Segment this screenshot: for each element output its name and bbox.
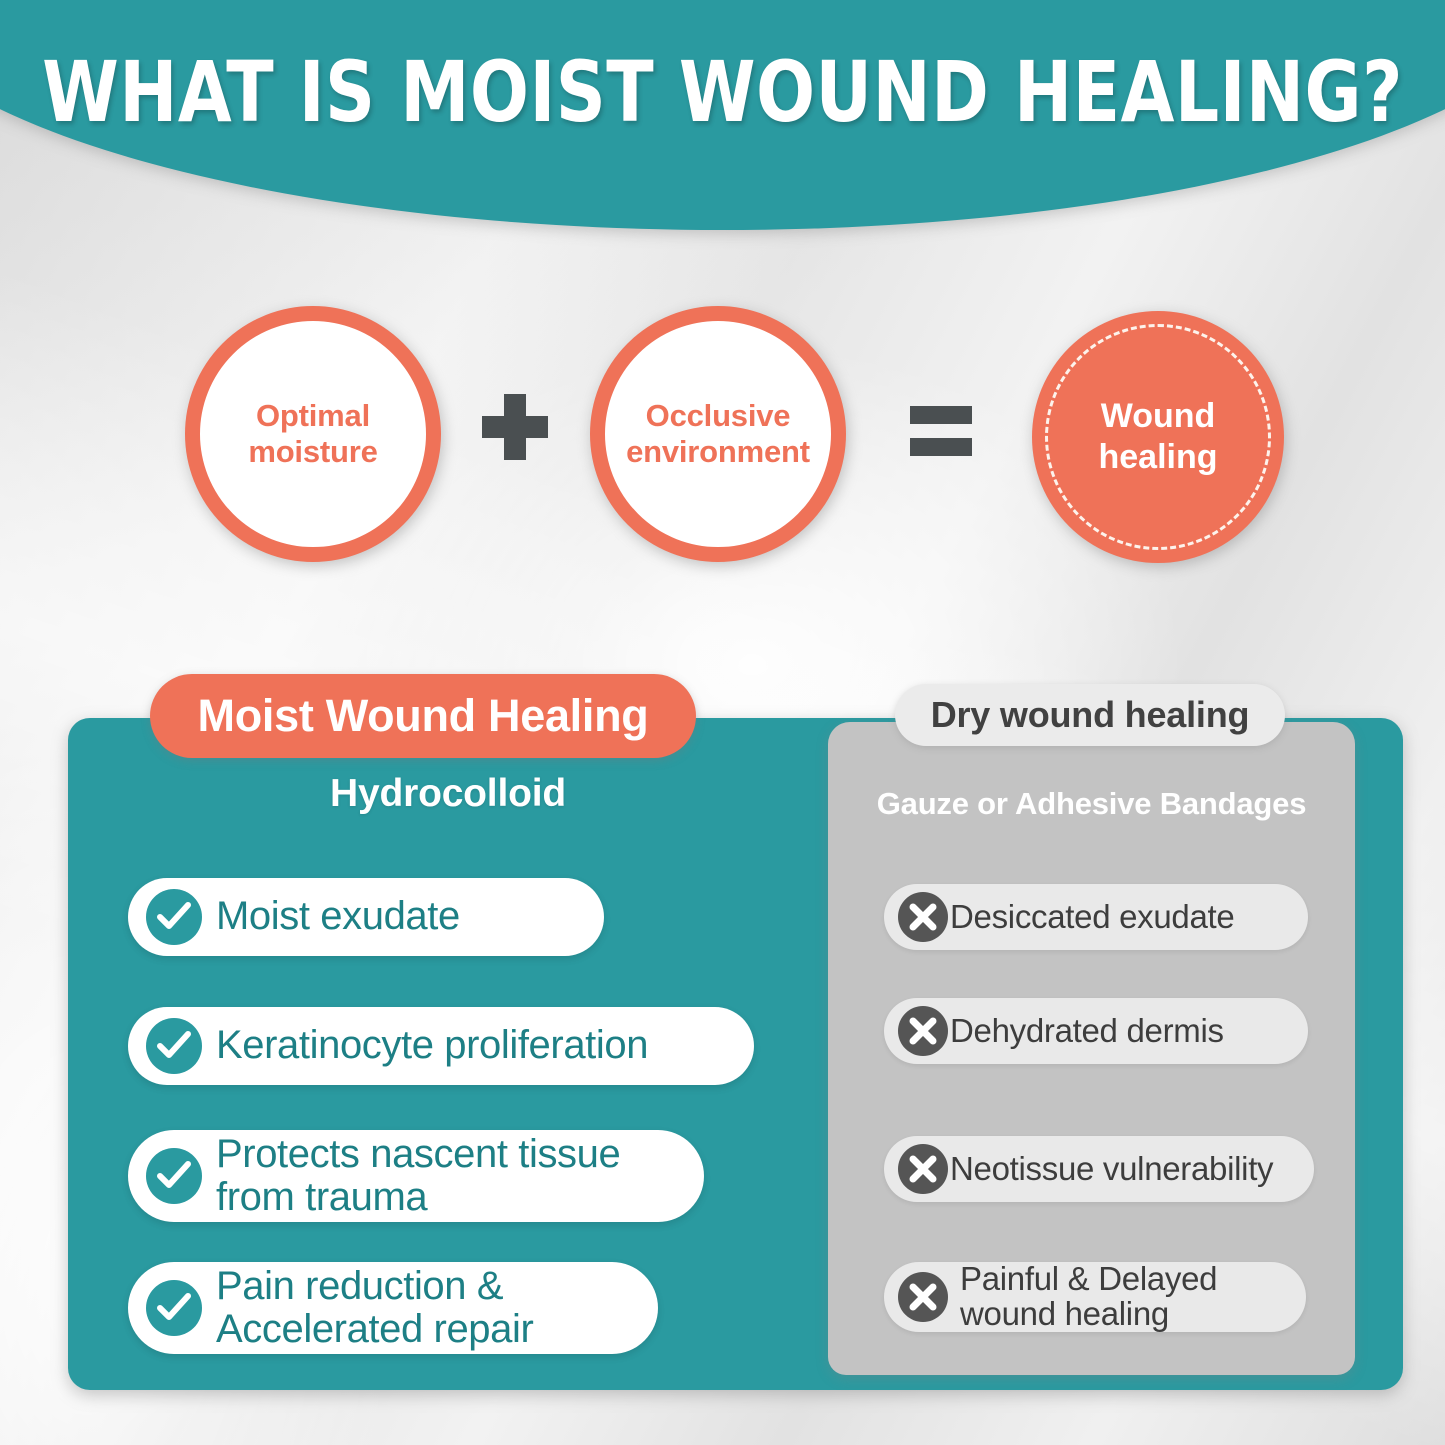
list-item-line1: Pain reduction &	[216, 1264, 503, 1308]
equation-result-wound-healing: Wound healing	[1032, 311, 1284, 563]
list-item-label: Protects nascent tissue from trauma	[216, 1133, 620, 1219]
list-item-line1: Dehydrated dermis	[950, 1012, 1224, 1049]
plus-operator-icon	[482, 394, 548, 460]
list-item-label: Keratinocyte proliferation	[216, 1024, 648, 1067]
list-item-line1: Moist exudate	[216, 894, 460, 938]
equation-term-line2: healing	[1098, 438, 1217, 476]
list-item-line2: from trauma	[216, 1175, 427, 1219]
equals-bar-top	[910, 406, 972, 424]
list-item-line1: Painful & Delayed	[960, 1260, 1217, 1297]
equals-bar-bottom	[910, 438, 972, 456]
list-item-label: Painful & Delayed wound healing	[960, 1262, 1217, 1331]
dry-panel-tag: Dry wound healing	[895, 684, 1285, 746]
list-item-line1: Protects nascent tissue	[216, 1132, 620, 1176]
equation-term-label: Optimal moisture	[248, 398, 377, 470]
equation-term-occlusive-environment: Occlusive environment	[590, 306, 846, 562]
check-icon	[146, 1280, 202, 1336]
equation-term-line1: Optimal	[256, 398, 370, 433]
cross-icon	[898, 1272, 948, 1322]
list-item: Keratinocyte proliferation	[128, 1007, 754, 1085]
list-item: Painful & Delayed wound healing	[884, 1262, 1306, 1332]
equation-term-label: Occlusive environment	[626, 398, 810, 470]
list-item-label: Pain reduction & Accelerated repair	[216, 1265, 533, 1351]
equation-term-line1: Wound	[1101, 397, 1216, 435]
dry-panel-subtitle: Gauze or Adhesive Bandages	[828, 786, 1355, 822]
list-item-label: Neotissue vulnerability	[950, 1152, 1273, 1187]
equals-operator-icon	[910, 406, 972, 458]
equation-term-label: Wound healing	[1098, 396, 1217, 478]
list-item-line1: Neotissue vulnerability	[950, 1150, 1273, 1187]
moist-panel-tag: Moist Wound Healing	[150, 674, 696, 758]
list-item: Neotissue vulnerability	[884, 1136, 1314, 1202]
list-item-line2: wound healing	[960, 1295, 1169, 1332]
cross-icon	[898, 1006, 948, 1056]
cross-icon	[898, 892, 948, 942]
equation-term-line2: environment	[626, 434, 810, 469]
plus-bar-vertical	[504, 394, 526, 460]
list-item: Moist exudate	[128, 878, 604, 956]
check-icon	[146, 889, 202, 945]
list-item-line2: Accelerated repair	[216, 1307, 533, 1351]
check-icon	[146, 1018, 202, 1074]
list-item: Protects nascent tissue from trauma	[128, 1130, 704, 1222]
equation-row: Optimal moisture Occlusive environment W…	[0, 306, 1445, 568]
list-item-label: Dehydrated dermis	[950, 1014, 1224, 1049]
page-title: WHAT IS MOIST WOUND HEALING?	[0, 50, 1445, 134]
list-item: Dehydrated dermis	[884, 998, 1308, 1064]
equation-term-line1: Occlusive	[646, 398, 791, 433]
list-item-label: Desiccated exudate	[950, 900, 1234, 935]
list-item-line1: Desiccated exudate	[950, 898, 1234, 935]
moist-panel-subtitle: Hydrocolloid	[68, 772, 828, 816]
cross-icon	[898, 1144, 948, 1194]
equation-term-line2: moisture	[248, 434, 377, 469]
list-item-label: Moist exudate	[216, 895, 460, 938]
equation-term-optimal-moisture: Optimal moisture	[185, 306, 441, 562]
list-item-line1: Keratinocyte proliferation	[216, 1023, 648, 1067]
list-item: Desiccated exudate	[884, 884, 1308, 950]
check-icon	[146, 1148, 202, 1204]
list-item: Pain reduction & Accelerated repair	[128, 1262, 658, 1354]
